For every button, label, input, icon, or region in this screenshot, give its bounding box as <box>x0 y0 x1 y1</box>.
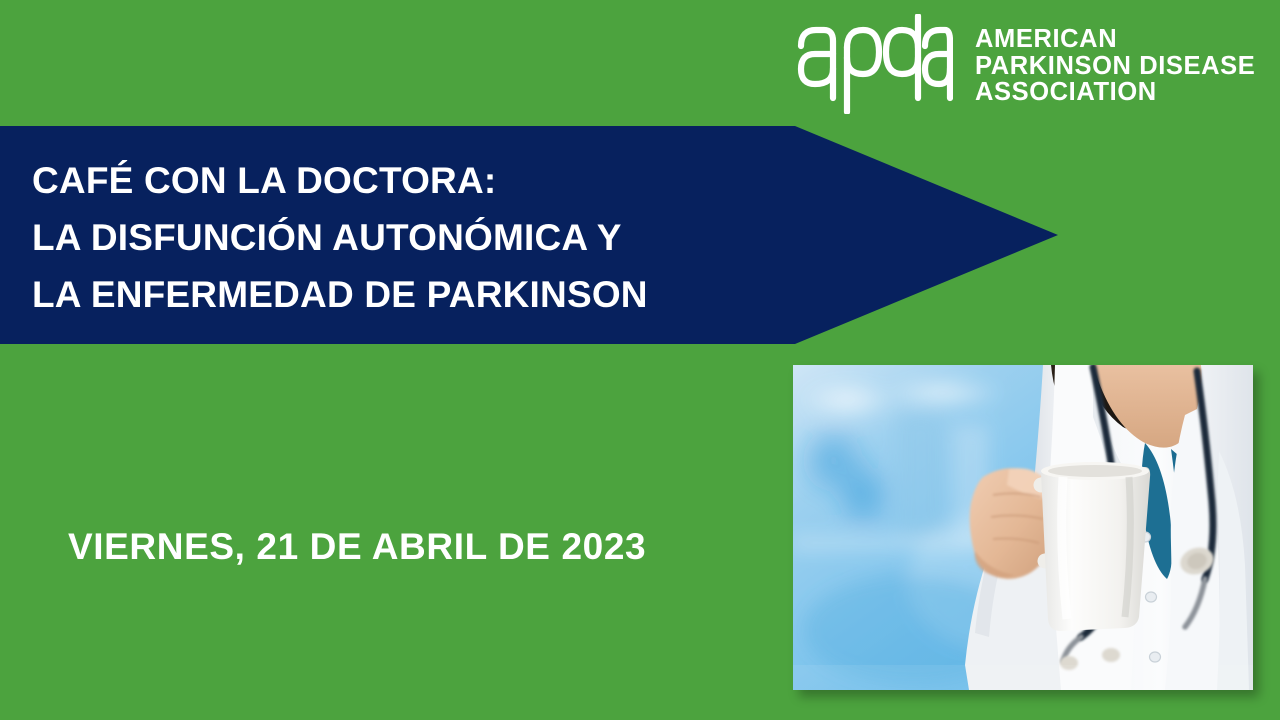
title-line-3: LA ENFERMEDAD DE PARKINSON <box>32 266 792 323</box>
apda-name-line-2: PARKINSON DISEASE <box>975 53 1255 80</box>
apda-name-line-1: AMERICAN <box>975 26 1255 53</box>
poster-canvas: AMERICAN PARKINSON DISEASE ASSOCIATION C… <box>0 0 1280 720</box>
doctor-with-coffee-photo <box>793 365 1253 690</box>
title-line-2: LA DISFUNCIÓN AUTONÓMICA Y <box>32 209 792 266</box>
apda-full-name: AMERICAN PARKINSON DISEASE ASSOCIATION <box>975 26 1255 106</box>
title-line-1: CAFÉ CON LA DOCTORA: <box>32 152 792 209</box>
event-date: VIERNES, 21 DE ABRIL DE 2023 <box>68 526 646 568</box>
apda-logo: AMERICAN PARKINSON DISEASE ASSOCIATION <box>795 14 1255 114</box>
apda-wordmark-icon <box>795 14 953 114</box>
apda-name-line-3: ASSOCIATION <box>975 79 1255 106</box>
title-text-block: CAFÉ CON LA DOCTORA: LA DISFUNCIÓN AUTON… <box>32 152 792 323</box>
title-banner: CAFÉ CON LA DOCTORA: LA DISFUNCIÓN AUTON… <box>0 126 1060 344</box>
